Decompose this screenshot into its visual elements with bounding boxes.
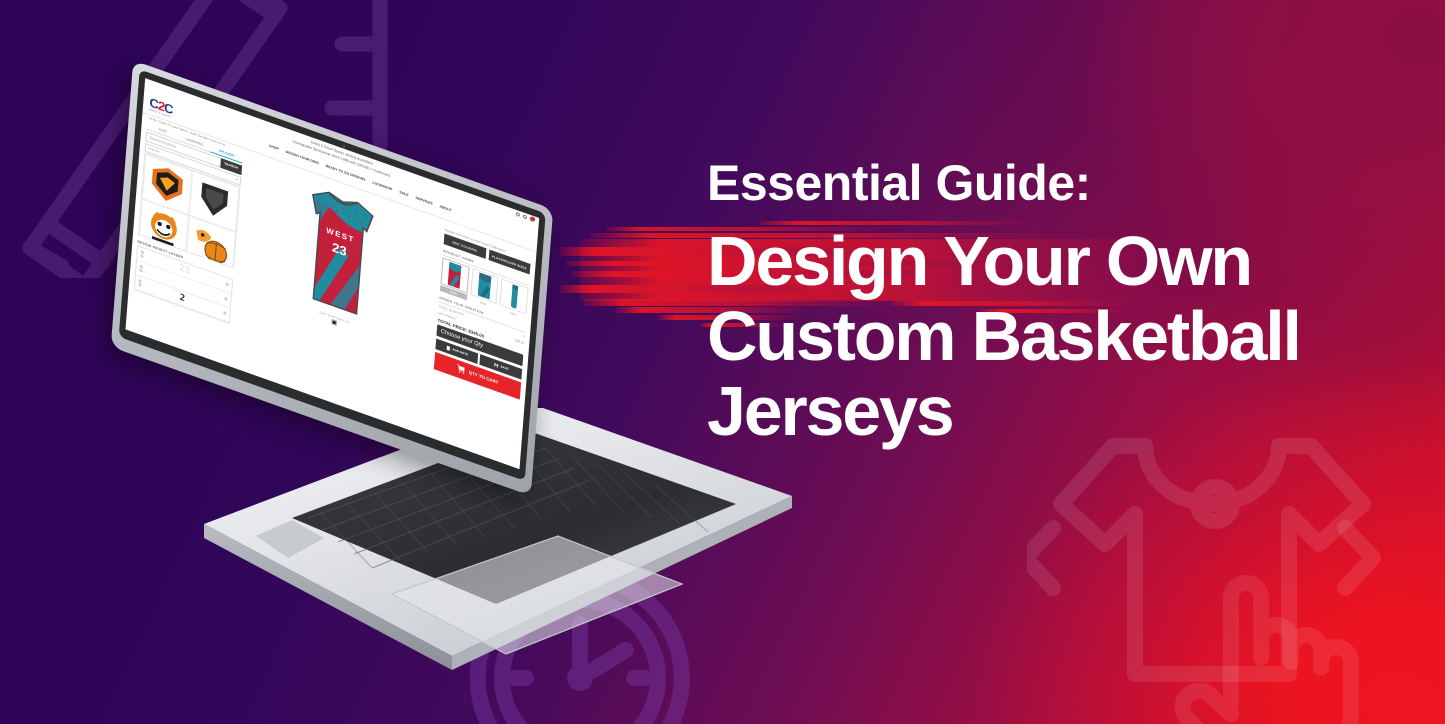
- layer-visibility-icon[interactable]: [138, 279, 141, 282]
- browser-screen: Coast 2 Coast Sports serving Australia's…: [125, 78, 539, 469]
- headline-main: Design Your Own Custom Basketball Jersey…: [707, 224, 1417, 449]
- layer-delete-icon[interactable]: [226, 283, 229, 286]
- headline-line-3: Custom Basketball: [707, 299, 1417, 374]
- headline-line-4: Jerseys: [707, 374, 1417, 449]
- layer-delete-icon[interactable]: [225, 297, 228, 300]
- tshirt-icon: [1027, 412, 1427, 724]
- product-view-side[interactable]: Side: [499, 279, 528, 322]
- screen-bezel: Coast 2 Coast Sports serving Australia's…: [119, 69, 546, 481]
- note-icon: [445, 345, 450, 352]
- qty-to-cart-label: QTY TO CART: [468, 370, 498, 385]
- promo-banner: Coast 2 Coast Sports serving Australia's…: [0, 0, 1445, 724]
- headline-line-1: Essential Guide:: [707, 158, 1417, 208]
- layer-visibility-icon[interactable]: [141, 251, 144, 254]
- nav-item-shop[interactable]: SHOP: [269, 144, 279, 151]
- chevron-right-icon: [1345, 528, 1373, 588]
- layer-lock-icon[interactable]: [139, 269, 142, 272]
- chevron-left-icon: [1027, 528, 1053, 588]
- webcam-icon: [342, 144, 345, 148]
- total-quantity-value: 5: [523, 334, 525, 338]
- shopping-cart-icon: [456, 364, 466, 376]
- cart-badge: [531, 216, 535, 221]
- save-label: SAVE: [500, 365, 508, 372]
- headline-block: Essential Guide: Design Your Own Custom …: [707, 158, 1417, 449]
- layer-thumbnail: 2: [179, 292, 185, 303]
- product-view-back[interactable]: Back: [470, 268, 499, 311]
- chevron-down-icon: ▾: [236, 177, 238, 181]
- nav-item-services[interactable]: SERVICES: [415, 196, 432, 206]
- unit-price-value: $69.00: [515, 338, 524, 345]
- category-select-value: Popular: [148, 146, 159, 154]
- save-icon: [493, 362, 498, 369]
- nav-item-sale[interactable]: SALE: [399, 190, 408, 197]
- product-view-front[interactable]: Front: [440, 258, 469, 301]
- nav-item-lookbook[interactable]: LOOKBOOK: [372, 180, 392, 191]
- product-options-panel: Design Your Own Custom Heat Sublimated E…: [432, 227, 531, 426]
- add-note-label: ADD NOTE: [452, 347, 468, 356]
- headline-line-2: Design Your Own: [707, 224, 1417, 299]
- layer-lock-icon[interactable]: [140, 255, 143, 258]
- laptop-device: Coast 2 Coast Sports serving Australia's…: [108, 128, 808, 698]
- graphics-panel: TEXT GRAPHICS UPLOADS Search Graphics SE…: [134, 122, 243, 324]
- layer-lock-icon[interactable]: [138, 283, 141, 286]
- layer-thumbnail: 23: [179, 263, 191, 276]
- pointer-hand-icon: [1183, 583, 1351, 724]
- color-swatch[interactable]: [331, 319, 336, 326]
- layer-delete-icon[interactable]: [224, 312, 227, 315]
- nav-item-about[interactable]: ABOUT: [439, 204, 451, 212]
- layer-visibility-icon[interactable]: [140, 265, 143, 268]
